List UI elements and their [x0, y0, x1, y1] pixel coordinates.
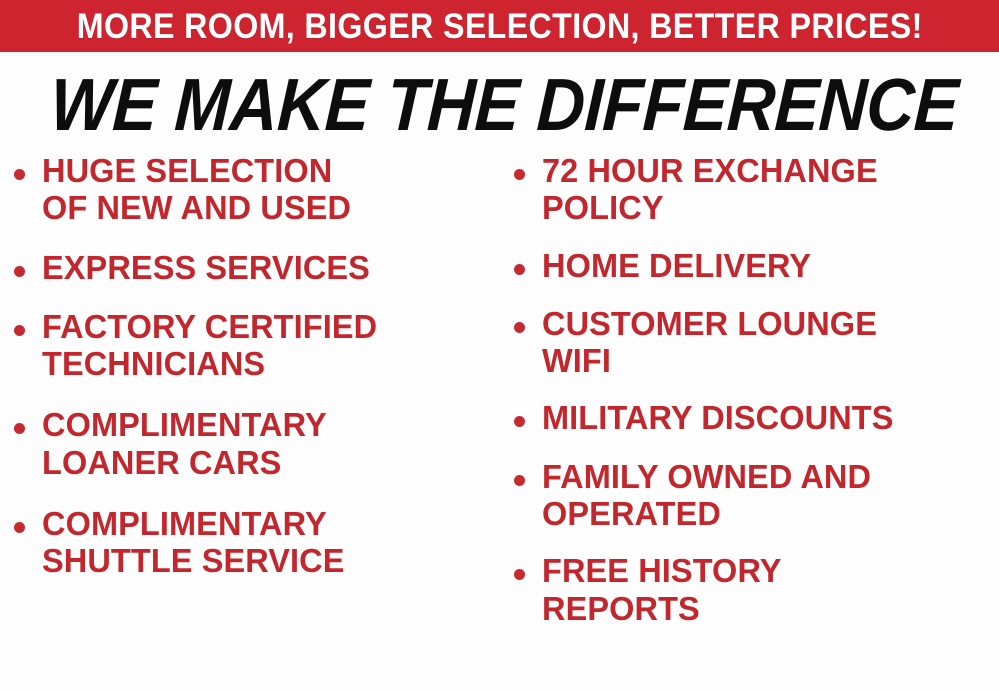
benefit-item: EXPRESS SERVICES — [14, 249, 500, 286]
bullet-dot-icon — [514, 475, 525, 486]
benefit-item: FREE HISTORYREPORTS — [514, 552, 999, 627]
benefit-item: CUSTOMER LOUNGEWIFI — [514, 305, 999, 380]
promotional-banner: MORE ROOM, BIGGER SELECTION, BETTER PRIC… — [0, 0, 999, 692]
benefit-item: FACTORY CERTIFIEDTECHNICIANS — [14, 308, 500, 383]
benefit-item-text: FACTORY CERTIFIEDTECHNICIANS — [42, 308, 500, 383]
bullet-dot-icon — [514, 169, 525, 180]
benefit-item-line: WIFI — [542, 342, 992, 379]
benefit-item-line: COMPLIMENTARY — [42, 505, 493, 542]
benefit-item-line: REPORTS — [542, 590, 992, 627]
promo-ribbon-text: MORE ROOM, BIGGER SELECTION, BETTER PRIC… — [77, 9, 923, 44]
benefits-column-right: 72 HOUR EXCHANGEPOLICYHOME DELIVERYCUSTO… — [514, 152, 999, 645]
benefit-item-line: POLICY — [542, 189, 992, 226]
benefit-item: COMPLIMENTARYSHUTTLE SERVICE — [14, 505, 500, 580]
benefit-item-line: SHUTTLE SERVICE — [42, 542, 493, 579]
bullet-dot-icon — [14, 522, 25, 533]
benefit-item: FAMILY OWNED ANDOPERATED — [514, 458, 999, 533]
benefit-item-text: CUSTOMER LOUNGEWIFI — [542, 305, 999, 380]
benefit-item-line: OPERATED — [542, 495, 992, 532]
bullet-dot-icon — [514, 569, 525, 580]
bullet-dot-icon — [14, 266, 25, 277]
benefit-item-line: FAMILY OWNED AND — [542, 458, 992, 495]
bullet-dot-icon — [14, 423, 25, 434]
headline-text: WE MAKE THE DIFFERENCE — [49, 68, 960, 142]
benefit-item-line: HOME DELIVERY — [542, 247, 992, 284]
benefit-item-text: HUGE SELECTIONOF NEW AND USED — [42, 152, 500, 227]
benefit-item-text: 72 HOUR EXCHANGEPOLICY — [542, 152, 999, 227]
benefit-item-line: COMPLIMENTARY — [42, 406, 493, 443]
benefit-item-line: LOANER CARS — [42, 444, 493, 481]
promo-ribbon: MORE ROOM, BIGGER SELECTION, BETTER PRIC… — [0, 0, 999, 52]
bullet-dot-icon — [514, 416, 525, 427]
benefit-item-text: COMPLIMENTARYLOANER CARS — [42, 406, 500, 481]
benefit-item-line: FACTORY CERTIFIED — [42, 308, 493, 345]
headline: WE MAKE THE DIFFERENCE — [0, 68, 999, 142]
benefits-columns: HUGE SELECTIONOF NEW AND USEDEXPRESS SER… — [0, 152, 999, 692]
benefit-item-line: TECHNICIANS — [42, 345, 493, 382]
benefit-item-text: FREE HISTORYREPORTS — [542, 552, 999, 627]
benefit-item-text: FAMILY OWNED ANDOPERATED — [542, 458, 999, 533]
benefit-item: 72 HOUR EXCHANGEPOLICY — [514, 152, 999, 227]
benefit-item: HUGE SELECTIONOF NEW AND USED — [14, 152, 500, 227]
benefits-column-left: HUGE SELECTIONOF NEW AND USEDEXPRESS SER… — [14, 152, 500, 598]
benefit-item-line: HUGE SELECTION — [42, 152, 493, 189]
benefit-item-text: HOME DELIVERY — [542, 247, 999, 284]
benefit-item-line: EXPRESS SERVICES — [42, 249, 493, 286]
benefit-item-text: MILITARY DISCOUNTS — [542, 399, 999, 436]
benefit-item-line: OF NEW AND USED — [42, 189, 493, 226]
bullet-dot-icon — [514, 322, 525, 333]
benefit-item: COMPLIMENTARYLOANER CARS — [14, 406, 500, 481]
bullet-dot-icon — [14, 169, 25, 180]
benefit-item-line: 72 HOUR EXCHANGE — [542, 152, 992, 189]
benefit-item: HOME DELIVERY — [514, 247, 999, 284]
benefit-item-text: COMPLIMENTARYSHUTTLE SERVICE — [42, 505, 500, 580]
benefit-item-text: EXPRESS SERVICES — [42, 249, 500, 286]
benefit-item-line: FREE HISTORY — [542, 552, 992, 589]
bullet-dot-icon — [14, 325, 25, 336]
benefit-item-line: CUSTOMER LOUNGE — [542, 305, 992, 342]
bullet-dot-icon — [514, 264, 525, 275]
benefit-item-line: MILITARY DISCOUNTS — [542, 399, 992, 436]
benefit-item: MILITARY DISCOUNTS — [514, 399, 999, 436]
